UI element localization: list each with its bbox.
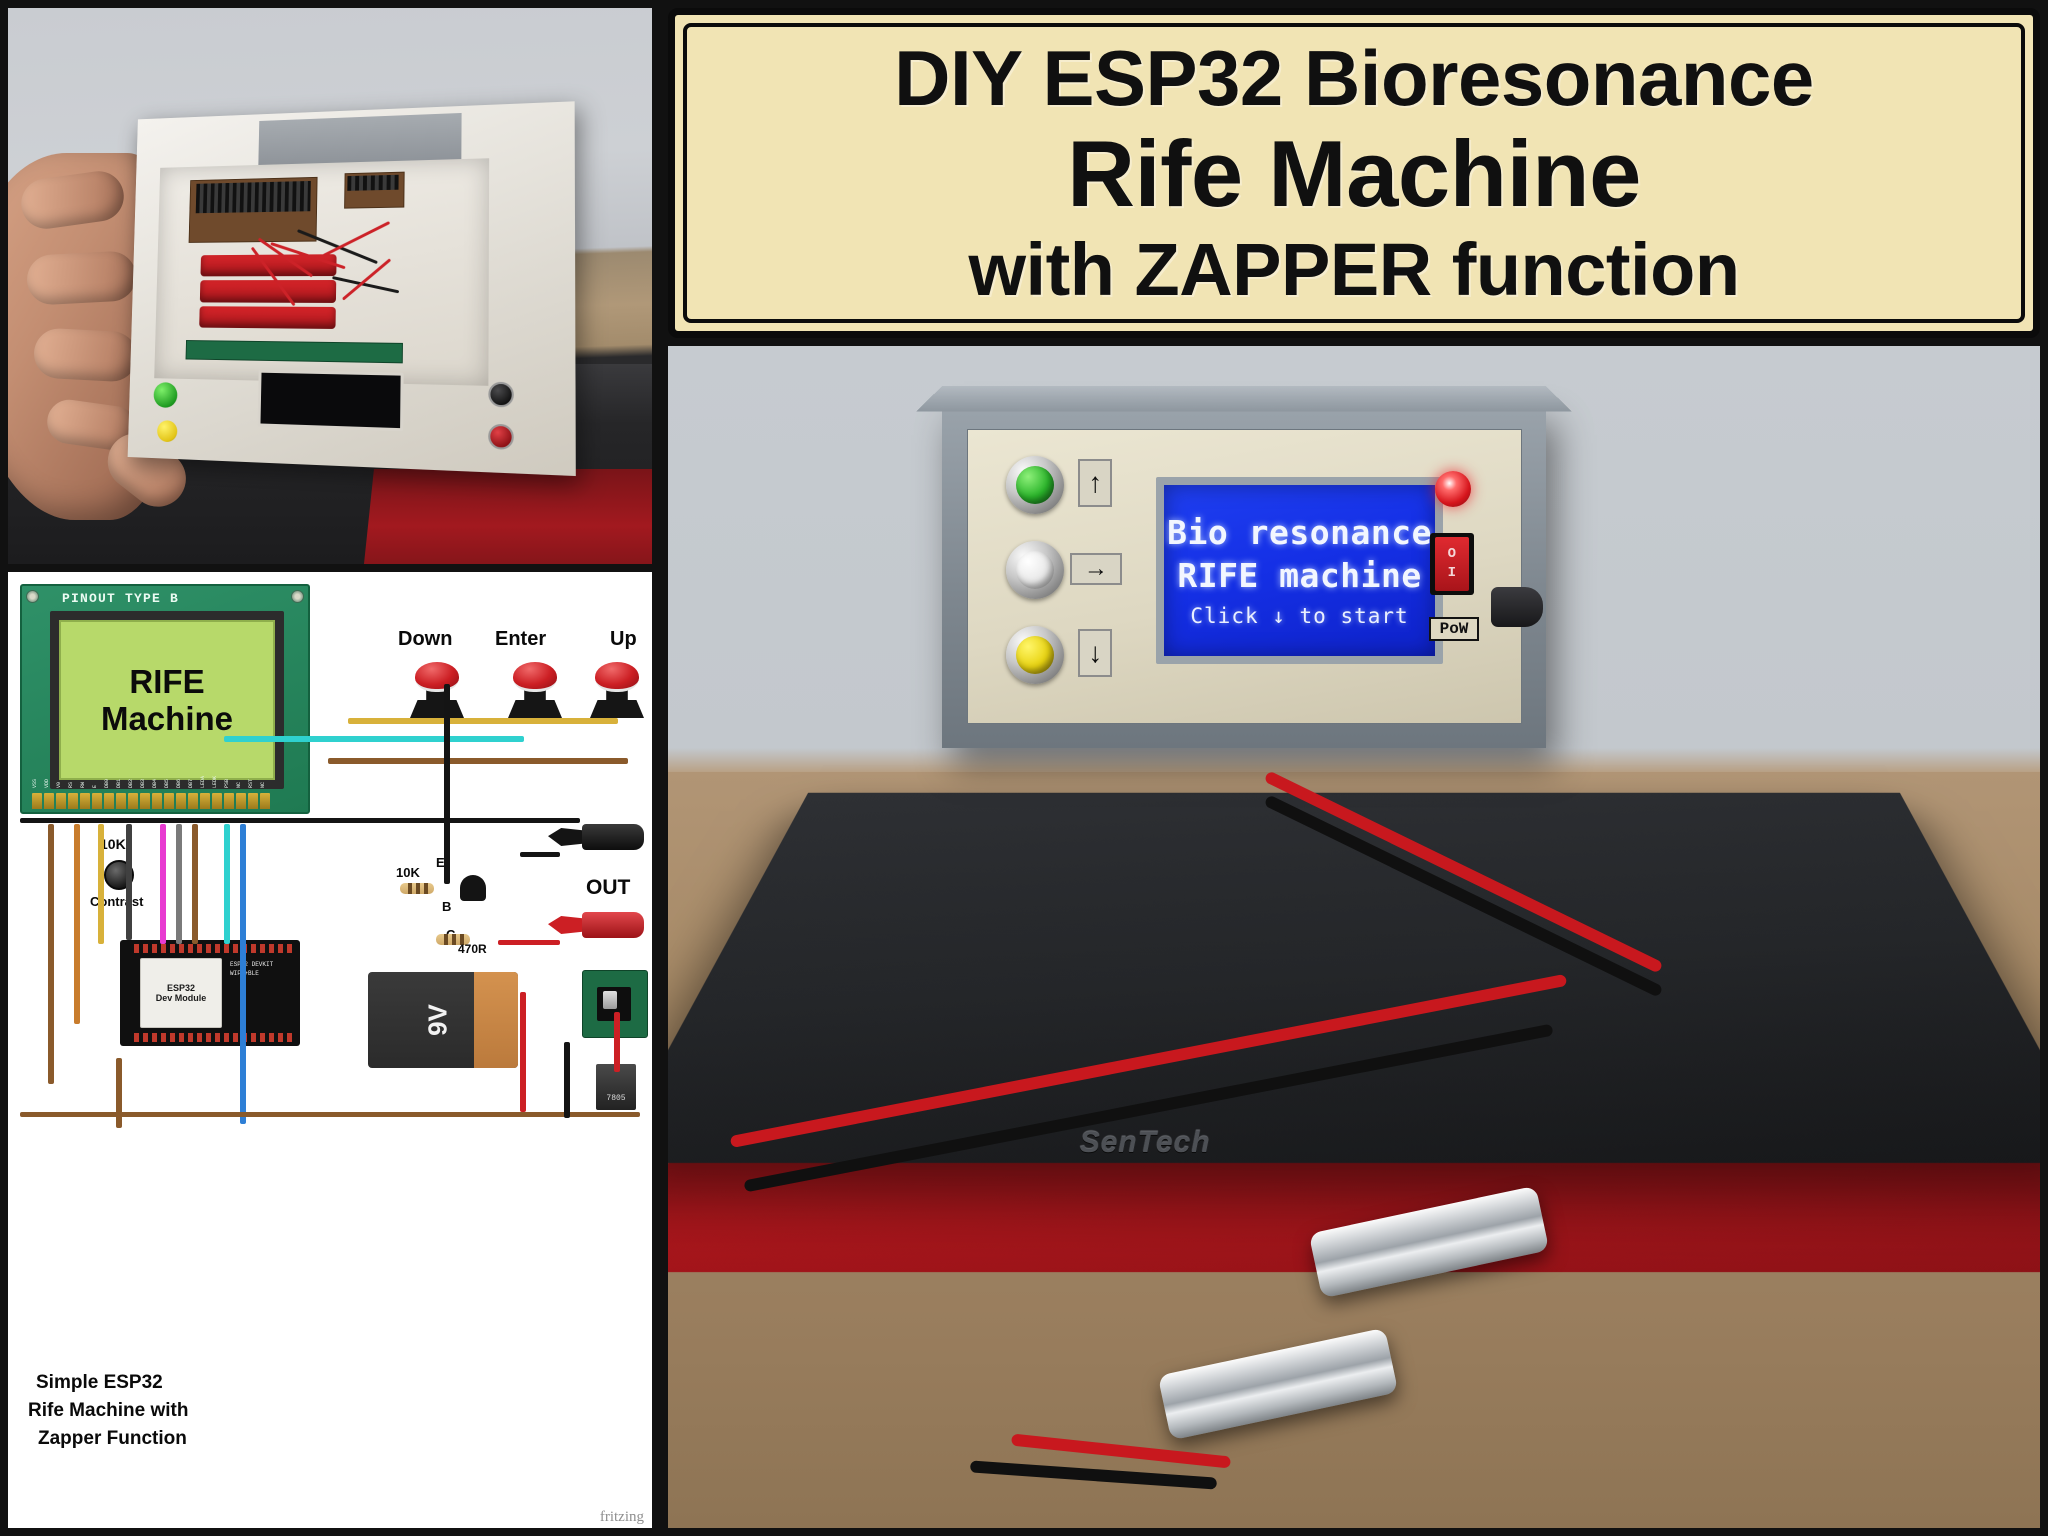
- base-label: B: [442, 899, 451, 914]
- enter-button-label: Enter: [495, 628, 546, 651]
- base-resistor: [400, 883, 434, 894]
- enclosure-top: [917, 386, 1571, 411]
- lcd-pin: VDD: [44, 793, 54, 809]
- lcd-pin-row: VSSVDDV0RSRWEDB0DB1DB2DB3DB4DB5DB6DB7LED…: [32, 789, 300, 809]
- lcd-pin: RW: [80, 793, 90, 809]
- esp32-shield: ESP32 Dev Module: [140, 958, 222, 1028]
- title-line-1: DIY ESP32 Bioresonance: [687, 39, 2021, 117]
- title-line-3: with ZAPPER function: [687, 233, 2021, 307]
- esp32-name-line-1: ESP32: [167, 983, 195, 993]
- enclosure-shell: [128, 101, 576, 476]
- lcd-pin: VSS: [32, 793, 42, 809]
- wire: [520, 992, 526, 1112]
- wire: [348, 718, 618, 724]
- screw-hole: [26, 590, 39, 603]
- lcd-pin: LEDA: [200, 793, 210, 809]
- nine-volt-battery: 9V: [368, 972, 518, 1068]
- photo-finished-device: SenTech ↑ → ↓ Bio resonance: [668, 346, 2040, 1528]
- lcd-pin-label: DB4: [152, 779, 158, 788]
- red-mat: [364, 469, 652, 564]
- lcd-pin: RST: [248, 793, 258, 809]
- lcd-pin-label: DB6: [176, 779, 182, 788]
- collector-resistor-label: 470R: [458, 942, 487, 956]
- lcd-pin: V0: [56, 793, 66, 809]
- enclosure-interior: [155, 159, 490, 386]
- enter-button[interactable]: [1006, 541, 1064, 599]
- finger: [26, 250, 138, 306]
- down-arrow-icon: ↓: [1078, 629, 1112, 677]
- up-button[interactable]: [1006, 456, 1064, 514]
- battery-voltage-label: 9V: [422, 1004, 453, 1036]
- lcd-pin: DB3: [140, 793, 150, 809]
- lcd-module-pcb: [186, 340, 404, 363]
- lcd-line-1: RIFE: [129, 665, 204, 698]
- lcd-pin-label: NC: [260, 782, 266, 788]
- lcd-line-3: Click ↓ to start: [1190, 604, 1408, 628]
- lcd-pin-label: LEDK: [212, 776, 218, 788]
- brand-plate: SenTech: [1080, 1126, 1211, 1160]
- battery-cell: [200, 281, 336, 303]
- lcd-pin-label: DB0: [104, 779, 110, 788]
- lcd-line-2: Machine: [101, 702, 233, 735]
- lcd-line-2: RIFE machine: [1177, 556, 1421, 595]
- wire: [20, 818, 580, 823]
- esp32-silk-line-2: WIFI+BLE: [230, 969, 273, 978]
- wire: [116, 1058, 122, 1128]
- wire: [20, 1112, 640, 1117]
- wire: [520, 852, 560, 857]
- image-collage: DIY ESP32 Bioresonance Rife Machine with…: [0, 0, 2048, 1536]
- power-led-icon: [1435, 471, 1471, 507]
- lcd-pin: DB1: [116, 793, 126, 809]
- up-button-label: Up: [610, 628, 637, 651]
- wire: [160, 824, 166, 944]
- lcd-pin: DB2: [128, 793, 138, 809]
- esp32-silkscreen: ESP32 DEVKIT WIFI+BLE: [230, 960, 273, 978]
- dc-connector: [1491, 587, 1543, 627]
- wire: [126, 824, 132, 940]
- wire: [224, 824, 230, 944]
- caption-line-1: Simple ESP32: [36, 1372, 163, 1394]
- wire: [498, 940, 560, 945]
- lcd-pin: DB5: [164, 793, 174, 809]
- wire: [74, 824, 80, 1024]
- lcd-pin-label: E: [92, 785, 98, 788]
- lcd-pin-label: VSS: [32, 779, 38, 788]
- lcd-glass: Bio resonance RIFE machine Click ↓ to st…: [1164, 485, 1436, 656]
- caption-line-2: Rife Machine with: [28, 1400, 188, 1422]
- wire: [444, 684, 450, 884]
- title-card: DIY ESP32 Bioresonance Rife Machine with…: [668, 8, 2040, 338]
- fritzing-watermark: fritzing: [600, 1509, 644, 1526]
- wire: [328, 758, 628, 764]
- lcd-pin: NC: [260, 793, 270, 809]
- lcd-pin: DB7: [188, 793, 198, 809]
- output-label: OUT: [586, 876, 630, 900]
- battery-cell: [200, 306, 337, 329]
- wire: [240, 824, 246, 1124]
- lcd-screen: RIFE Machine: [59, 620, 275, 780]
- lcd-pin-label: DB5: [164, 779, 170, 788]
- esp32-name-line-2: Dev Module: [156, 993, 207, 1003]
- wire: [614, 1012, 620, 1072]
- wire: [564, 1042, 570, 1118]
- power-rocker-switch[interactable]: O I: [1430, 533, 1474, 595]
- lcd-pin-label: RS: [68, 782, 74, 788]
- green-button[interactable]: [154, 382, 178, 408]
- lcd-pin: DB6: [176, 793, 186, 809]
- lcd-pin-label: RST: [248, 779, 254, 788]
- title-line-2: Rife Machine: [687, 127, 2021, 221]
- up-arrow-icon: ↑: [1078, 459, 1112, 507]
- lcd-pin-label: NC: [236, 782, 242, 788]
- photo-open-enclosure: [8, 8, 652, 564]
- lcd-line-1: Bio resonance: [1167, 513, 1432, 552]
- lcd-pin-label: DB3: [140, 779, 146, 788]
- lcd-pin: LEDK: [212, 793, 222, 809]
- lcd-pin: DB0: [104, 793, 114, 809]
- black-jack[interactable]: [488, 382, 514, 408]
- rocker-on-mark: O: [1448, 546, 1456, 562]
- pinout-type-label: PINOUT TYPE B: [62, 591, 179, 606]
- lcd-pin-label: LEDA: [200, 776, 206, 788]
- lcd-pin: E: [92, 793, 102, 809]
- down-button-label: Down: [398, 628, 452, 651]
- lcd-window: [258, 370, 405, 432]
- right-arrow-icon: →: [1070, 553, 1122, 585]
- lcd-pin-label: RW: [80, 782, 86, 788]
- fritzing-wiring-diagram: PINOUT TYPE B RIFE Machine VSSVDDV0RSRWE…: [8, 572, 652, 1528]
- esp32-silk-line-1: ESP32 DEVKIT: [230, 960, 273, 969]
- wire: [98, 824, 104, 944]
- down-pushbutton[interactable]: [406, 660, 468, 718]
- lcd-module-graphic: PINOUT TYPE B RIFE Machine VSSVDDV0RSRWE…: [20, 584, 310, 814]
- base-resistor-label: 10K: [396, 865, 420, 880]
- npn-transistor: [460, 875, 486, 901]
- enter-pushbutton[interactable]: [504, 660, 566, 718]
- lcd-pin-label: VDD: [44, 779, 50, 788]
- red-jack[interactable]: [488, 423, 514, 449]
- lcd-pin: DB4: [152, 793, 162, 809]
- black-alligator-clip[interactable]: [548, 824, 644, 850]
- wire: [48, 824, 54, 1084]
- yellow-button[interactable]: [157, 420, 178, 442]
- rocker-off-mark: I: [1448, 565, 1456, 581]
- wire: [224, 736, 524, 742]
- lcd-pin-label: DB2: [128, 779, 134, 788]
- lcd-pin-label: DB7: [188, 779, 194, 788]
- down-button[interactable]: [1006, 626, 1064, 684]
- wire: [192, 824, 198, 944]
- pin-header: [196, 181, 311, 213]
- power-label: PoW: [1429, 617, 1480, 641]
- front-panel: ↑ → ↓ Bio resonance RIFE machine Click ↓…: [967, 429, 1522, 724]
- up-pushbutton[interactable]: [586, 660, 648, 718]
- lcd-pin-label: V0: [56, 782, 62, 788]
- lcd-pin-label: DB1: [116, 779, 122, 788]
- wire: [176, 824, 182, 944]
- red-alligator-clip[interactable]: [548, 912, 644, 938]
- pin-header: [348, 174, 399, 190]
- lcd-pin-label: PSB: [224, 779, 230, 788]
- esp32-dev-module: ESP32 Dev Module ESP32 DEVKIT WIFI+BLE: [120, 940, 300, 1046]
- lcd-pin: RS: [68, 793, 78, 809]
- lcd-pin: NC: [236, 793, 246, 809]
- lcd-display: Bio resonance RIFE machine Click ↓ to st…: [1156, 477, 1444, 664]
- lcd-bezel: RIFE Machine: [50, 611, 284, 789]
- screw-hole: [291, 590, 304, 603]
- lcd-pin: PSB: [224, 793, 234, 809]
- finger: [33, 328, 139, 383]
- wire: [323, 221, 391, 257]
- caption-line-3: Zapper Function: [38, 1428, 187, 1450]
- device-enclosure: ↑ → ↓ Bio resonance RIFE machine Click ↓…: [942, 405, 1546, 748]
